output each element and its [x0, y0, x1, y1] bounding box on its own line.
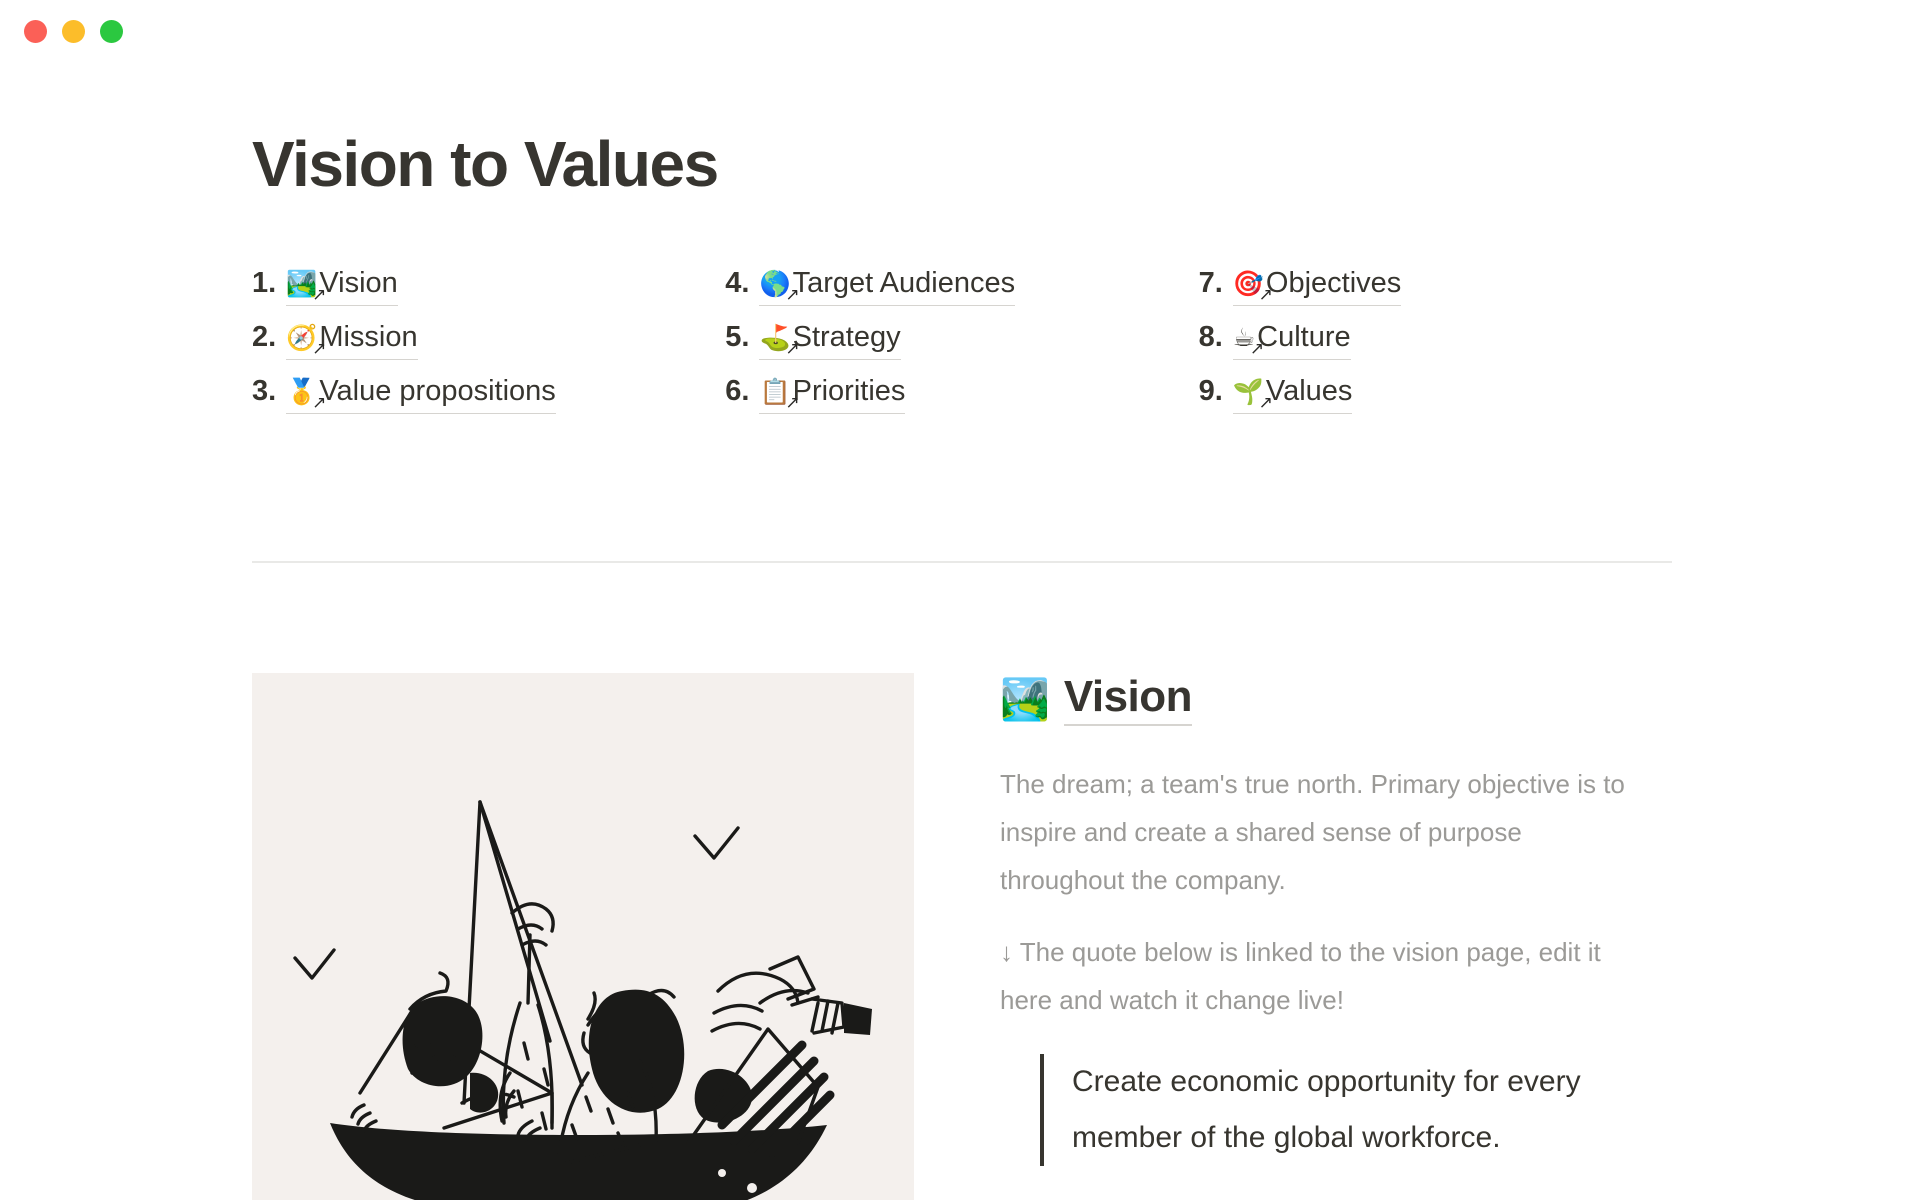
toc-label: Priorities	[793, 370, 906, 412]
toc-number: 9.	[1199, 370, 1223, 412]
toc-number: 3.	[252, 370, 276, 412]
link-arrow-icon: ↗	[785, 286, 799, 303]
toc-link[interactable]: ⛳ ↗ Strategy	[759, 316, 900, 360]
maximize-window-button[interactable]	[100, 20, 123, 43]
toc-item-mission[interactable]: 2. 🧭 ↗ Mission	[252, 316, 725, 360]
toc-item-vision[interactable]: 1. 🏞️ ↗ Vision	[252, 262, 725, 306]
mountain-icon: 🏞️ ↗	[286, 271, 317, 296]
toc-item-strategy[interactable]: 5. ⛳ ↗ Strategy	[725, 316, 1198, 360]
link-arrow-icon: ↗	[1259, 286, 1273, 303]
link-arrow-icon: ↗	[312, 286, 326, 303]
minimize-window-button[interactable]	[62, 20, 85, 43]
toc-item-objectives[interactable]: 7. 🎯 ↗ Objectives	[1199, 262, 1672, 306]
vision-heading: 🏞️ Vision	[1000, 673, 1672, 726]
dart-target-icon: 🎯 ↗	[1233, 271, 1264, 296]
toc-link[interactable]: 🎯 ↗ Objectives	[1233, 262, 1402, 306]
window-titlebar	[0, 0, 1920, 62]
document-page: Vision to Values 1. 🏞️ ↗ Vision 2. 🧭	[0, 62, 1920, 1200]
page-title: Vision to Values	[252, 129, 718, 199]
globe-americas-icon: 🌎 ↗	[759, 271, 790, 296]
coffee-cup-icon: ☕ ↗	[1233, 325, 1255, 350]
toc-number: 6.	[725, 370, 749, 412]
toc-number: 7.	[1199, 262, 1223, 304]
table-of-contents: 1. 🏞️ ↗ Vision 2. 🧭 ↗ Mission	[252, 262, 1672, 414]
toc-label: Objectives	[1266, 262, 1401, 304]
vision-quote-hint: ↓ The quote below is linked to the visio…	[1000, 928, 1640, 1024]
toc-label: Culture	[1257, 316, 1351, 358]
sailboat-crew-illustration	[252, 673, 914, 1200]
vision-title: Vision	[1064, 673, 1192, 726]
toc-column-2: 4. 🌎 ↗ Target Audiences 5. ⛳ ↗ Strateg	[725, 262, 1198, 414]
vision-description: The dream; a team's true north. Primary …	[1000, 760, 1640, 904]
toc-item-value-propositions[interactable]: 3. 🥇 ↗ Value propositions	[252, 370, 725, 414]
toc-number: 4.	[725, 262, 749, 304]
link-arrow-icon: ↗	[785, 340, 799, 357]
link-arrow-icon: ↗	[1259, 394, 1273, 411]
toc-label: Values	[1266, 370, 1353, 412]
toc-item-values[interactable]: 9. 🌱 ↗ Values	[1199, 370, 1672, 414]
close-window-button[interactable]	[24, 20, 47, 43]
vision-section: 🏞️ Vision The dream; a team's true north…	[252, 673, 1672, 1200]
gold-medal-icon: 🥇 ↗	[286, 379, 317, 404]
vision-text-column: 🏞️ Vision The dream; a team's true north…	[1000, 673, 1672, 1200]
toc-label: Strategy	[793, 316, 901, 358]
toc-label: Vision	[319, 262, 397, 304]
vision-quote-text: Create economic opportunity for every me…	[1072, 1054, 1632, 1166]
golf-flag-icon: ⛳ ↗	[759, 325, 790, 350]
toc-number: 8.	[1199, 316, 1223, 358]
compass-icon: 🧭 ↗	[286, 325, 317, 350]
vision-quote-block[interactable]: Create economic opportunity for every me…	[1040, 1054, 1632, 1166]
toc-link[interactable]: 🧭 ↗ Mission	[286, 316, 417, 360]
toc-label: Value propositions	[319, 370, 555, 412]
toc-item-culture[interactable]: 8. ☕ ↗ Culture	[1199, 316, 1672, 360]
section-divider	[252, 561, 1672, 563]
toc-column-3: 7. 🎯 ↗ Objectives 8. ☕ ↗ Culture	[1199, 262, 1672, 414]
toc-link[interactable]: 🏞️ ↗ Vision	[286, 262, 398, 306]
toc-number: 5.	[725, 316, 749, 358]
link-arrow-icon: ↗	[312, 340, 326, 357]
toc-label: Target Audiences	[793, 262, 1015, 304]
toc-item-target-audiences[interactable]: 4. 🌎 ↗ Target Audiences	[725, 262, 1198, 306]
link-arrow-icon: ↗	[785, 394, 799, 411]
toc-link[interactable]: ☕ ↗ Culture	[1233, 316, 1351, 360]
toc-number: 1.	[252, 262, 276, 304]
toc-number: 2.	[252, 316, 276, 358]
toc-item-priorities[interactable]: 6. 📋 ↗ Priorities	[725, 370, 1198, 414]
mountain-icon: 🏞️	[1000, 680, 1050, 720]
toc-link[interactable]: 🌱 ↗ Values	[1233, 370, 1353, 414]
toc-label: Mission	[319, 316, 417, 358]
seedling-icon: 🌱 ↗	[1233, 379, 1264, 404]
toc-link[interactable]: 📋 ↗ Priorities	[759, 370, 905, 414]
toc-column-1: 1. 🏞️ ↗ Vision 2. 🧭 ↗ Mission	[252, 262, 725, 414]
link-arrow-icon: ↗	[1250, 340, 1264, 357]
toc-link[interactable]: 🌎 ↗ Target Audiences	[759, 262, 1015, 306]
toc-link[interactable]: 🥇 ↗ Value propositions	[286, 370, 556, 414]
clipboard-icon: 📋 ↗	[759, 379, 790, 404]
traffic-light-group	[24, 20, 123, 43]
link-arrow-icon: ↗	[312, 394, 326, 411]
